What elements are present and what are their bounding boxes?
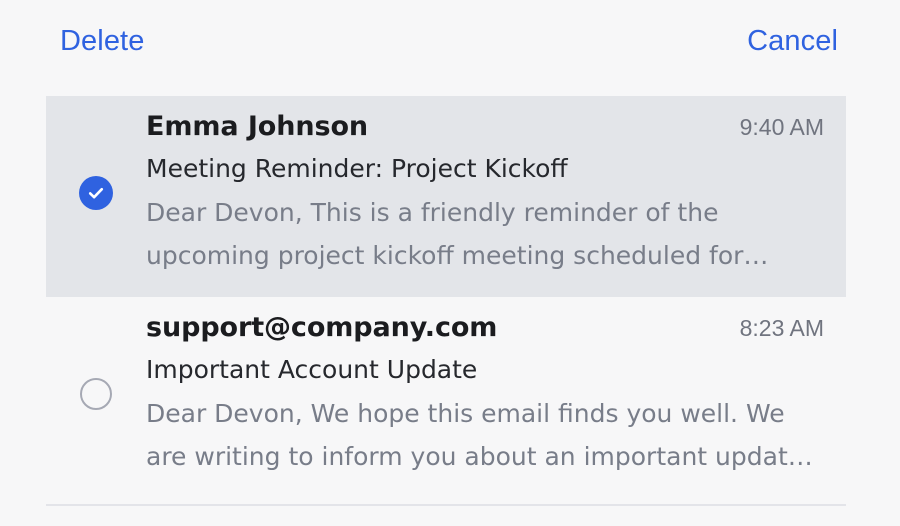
message-content: support@company.com 8:23 AM Important Ac… xyxy=(146,311,846,478)
selection-control-cell xyxy=(46,311,146,482)
cancel-button[interactable]: Cancel xyxy=(745,23,840,60)
message-list: Emma Johnson 9:40 AM Meeting Reminder: P… xyxy=(46,96,846,498)
message-subject: Meeting Reminder: Project Kickoff xyxy=(146,153,824,186)
message-header-line: Emma Johnson 9:40 AM xyxy=(146,110,824,144)
message-preview: Dear Devon, This is a friendly reminder … xyxy=(146,192,824,277)
message-header-line: support@company.com 8:23 AM xyxy=(146,311,824,345)
selection-toolbar: Delete Cancel xyxy=(0,0,900,82)
selection-control-cell xyxy=(46,110,146,281)
email-selection-screen: Delete Cancel Emma Johnson 9:40 AM Meeti… xyxy=(0,0,900,526)
message-row[interactable]: support@company.com 8:23 AM Important Ac… xyxy=(46,297,846,498)
message-timestamp: 8:23 AM xyxy=(740,314,824,343)
message-sender: support@company.com xyxy=(146,311,497,345)
circle-empty-icon[interactable] xyxy=(80,378,112,410)
message-timestamp: 9:40 AM xyxy=(740,113,824,142)
message-content: Emma Johnson 9:40 AM Meeting Reminder: P… xyxy=(146,110,846,277)
message-sender: Emma Johnson xyxy=(146,110,368,144)
message-row-selected[interactable]: Emma Johnson 9:40 AM Meeting Reminder: P… xyxy=(46,96,846,297)
message-subject: Important Account Update xyxy=(146,354,824,387)
list-bottom-divider xyxy=(46,504,846,506)
delete-button[interactable]: Delete xyxy=(58,23,146,60)
message-preview: Dear Devon, We hope this email finds you… xyxy=(146,393,824,478)
check-circle-filled-icon[interactable] xyxy=(79,176,113,210)
